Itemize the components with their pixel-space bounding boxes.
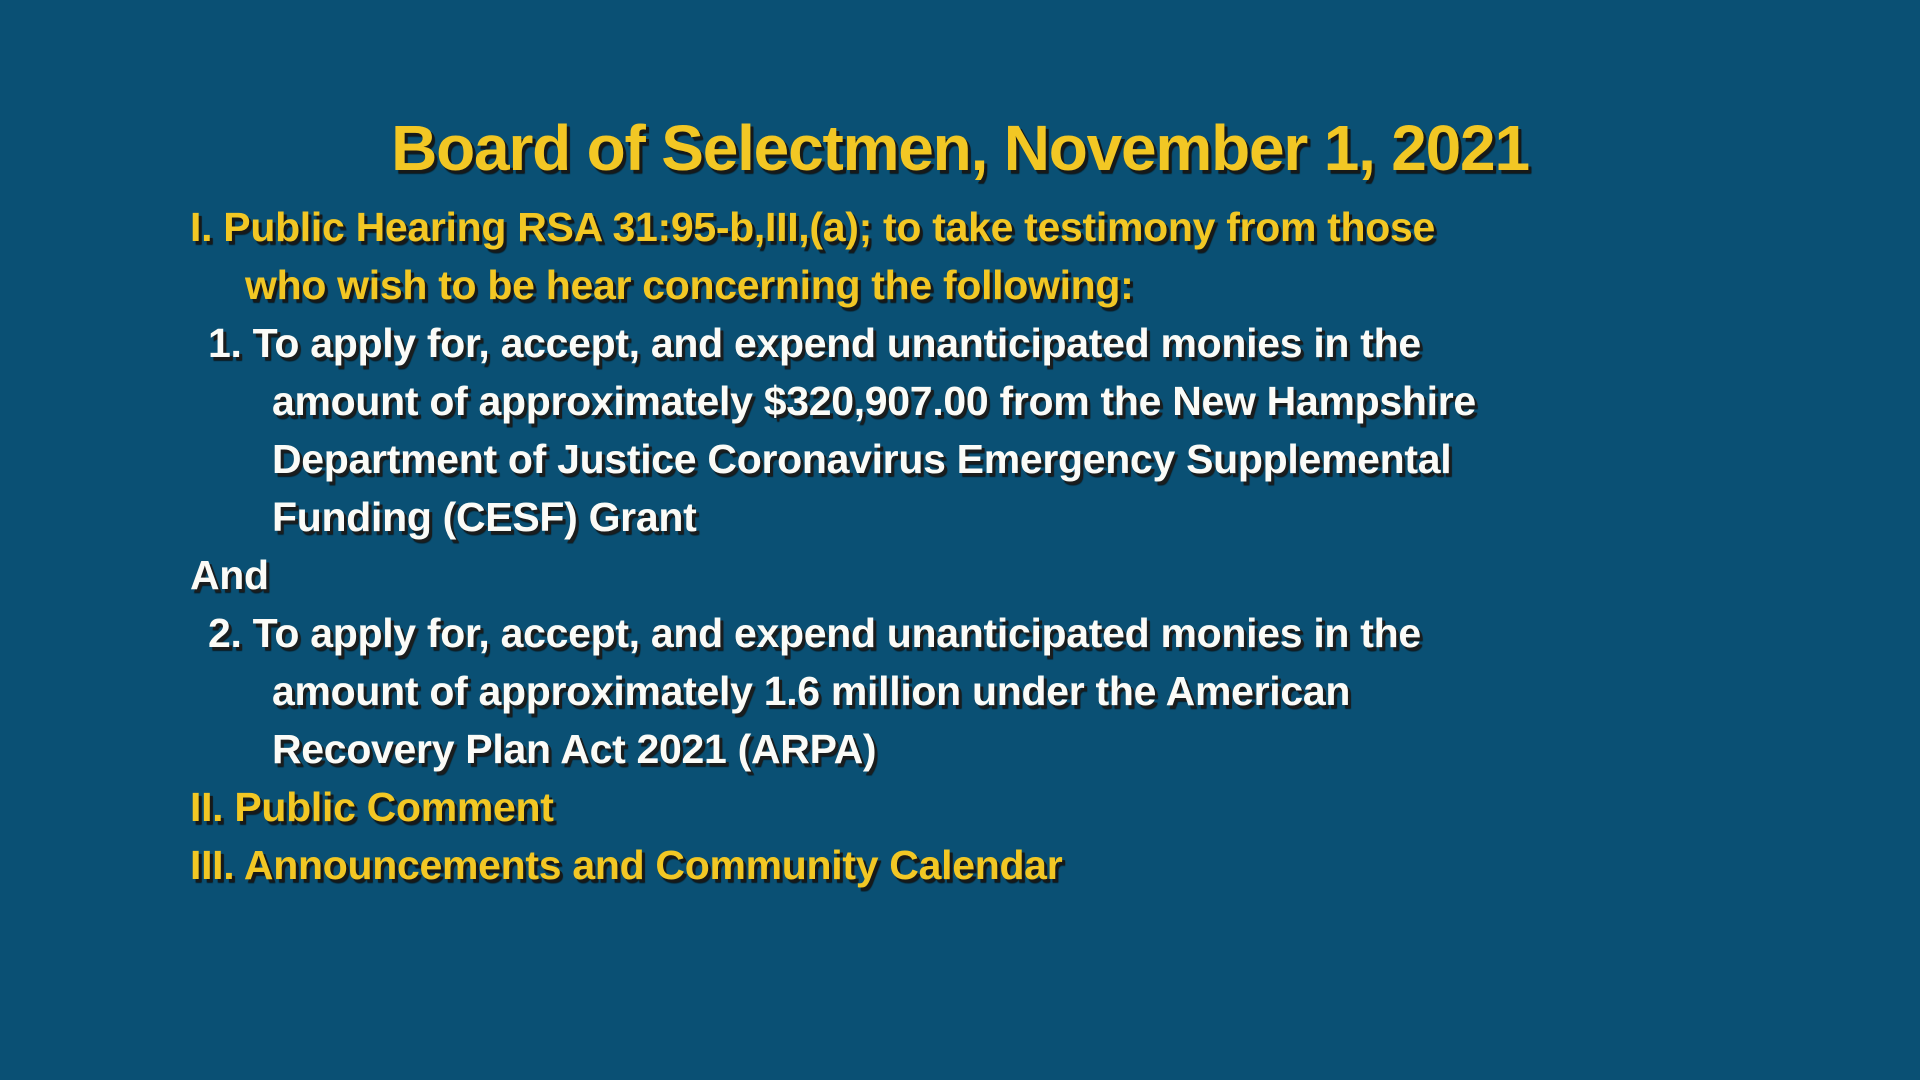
agenda-list: I. Public Hearing RSA 31:95-b,III,(a); t… xyxy=(190,198,1890,894)
agenda-line-item-I-1: I. Public Hearing RSA 31:95-b,III,(a); t… xyxy=(190,198,1890,256)
page-title: Board of Selectmen, November 1, 2021 xyxy=(0,116,1920,180)
agenda-line-conjunction: And xyxy=(190,546,1890,604)
agenda-line-item-II: II. Public Comment xyxy=(190,778,1890,836)
agenda-line-item-1-4: Funding (CESF) Grant xyxy=(190,488,1890,546)
agenda-line-item-1-3: Department of Justice Coronavirus Emerge… xyxy=(190,430,1890,488)
agenda-line-item-III: III. Announcements and Community Calenda… xyxy=(190,836,1890,894)
agenda-line-item-1-2: amount of approximately $320,907.00 from… xyxy=(190,372,1890,430)
agenda-line-item-2-2: amount of approximately 1.6 million unde… xyxy=(190,662,1890,720)
agenda-line-item-1-1: 1. To apply for, accept, and expend unan… xyxy=(190,314,1890,372)
agenda-line-item-2-1: 2. To apply for, accept, and expend unan… xyxy=(190,604,1890,662)
agenda-line-item-2-3: Recovery Plan Act 2021 (ARPA) xyxy=(190,720,1890,778)
agenda-slide: Board of Selectmen, November 1, 2021 I. … xyxy=(0,0,1920,1080)
agenda-line-item-I-2: who wish to be hear concerning the follo… xyxy=(190,256,1890,314)
